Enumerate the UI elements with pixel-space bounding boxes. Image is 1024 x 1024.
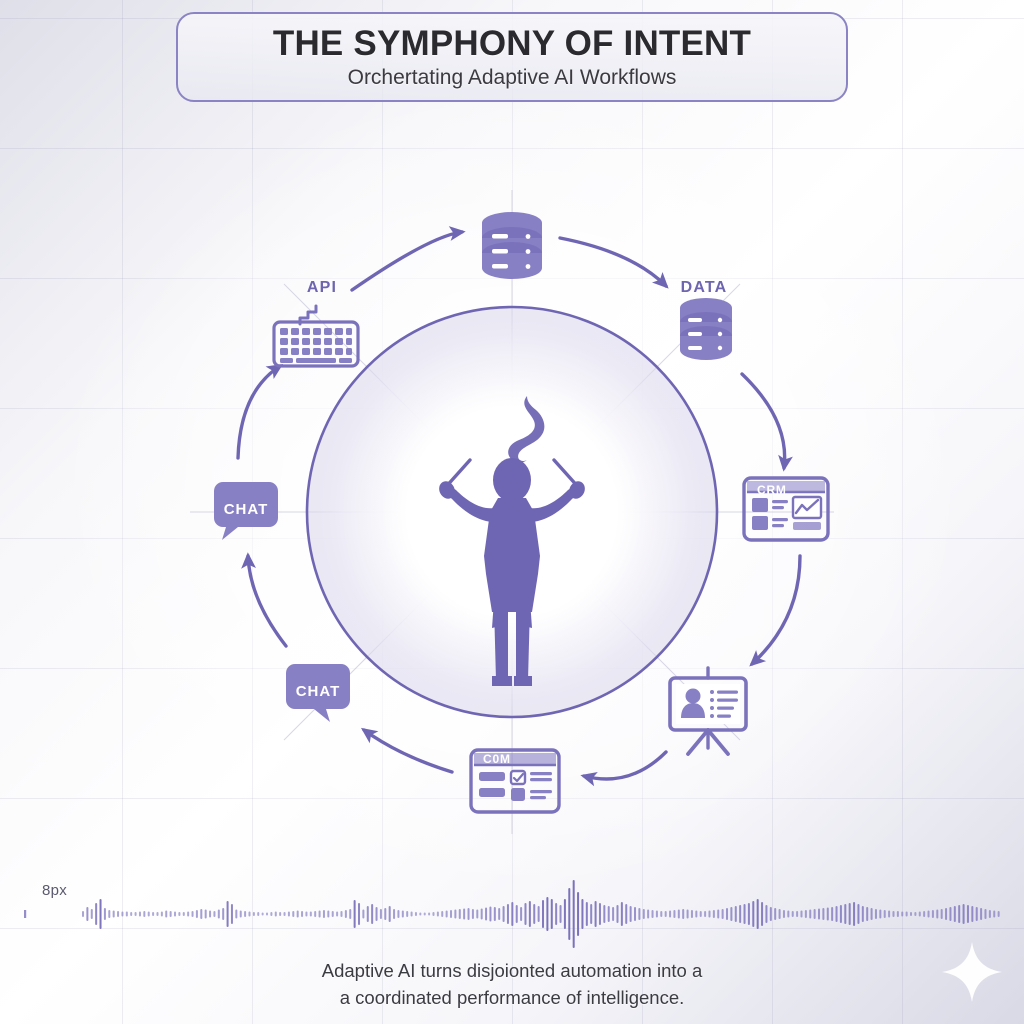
chat-left-label: CHAT [224, 501, 269, 518]
arrow-presentation-to-form [584, 752, 666, 779]
database-icon-data[interactable] [680, 298, 732, 360]
arrow-api-to-data [352, 232, 462, 290]
database-icon[interactable] [482, 212, 542, 279]
node-label-data: DATA [681, 279, 728, 297]
infographic-canvas: THE SYMPHONY OF INTENT Orchertating Adap… [0, 0, 1024, 1024]
arrow-form-to-chat-bottom [364, 730, 452, 772]
caption: Adaptive AI turns disjoionted automation… [0, 958, 1024, 1012]
waveform-panel: 8px [0, 856, 1024, 948]
arrow-chat-bottom-to-chat-left [248, 556, 286, 646]
sparkle-icon [940, 940, 1004, 1004]
arrow-crm-to-presentation [752, 556, 800, 664]
chat-bottom-label: CHAT [296, 683, 341, 700]
arrow-chat-left-to-api [238, 366, 280, 458]
arrow-data-to-datanode [560, 238, 666, 286]
caption-line-2: a coordinated performance of intelligenc… [0, 985, 1024, 1012]
keyboard-icon[interactable] [274, 306, 358, 366]
form-icon-label: C0M [483, 752, 511, 766]
crm-icon-label: CRM [757, 483, 787, 497]
caption-line-1: Adaptive AI turns disjoionted automation… [0, 958, 1024, 985]
arrow-data-to-crm [742, 374, 785, 468]
waveform-scale-label: 8px [42, 882, 67, 899]
node-label-api: API [307, 279, 337, 297]
